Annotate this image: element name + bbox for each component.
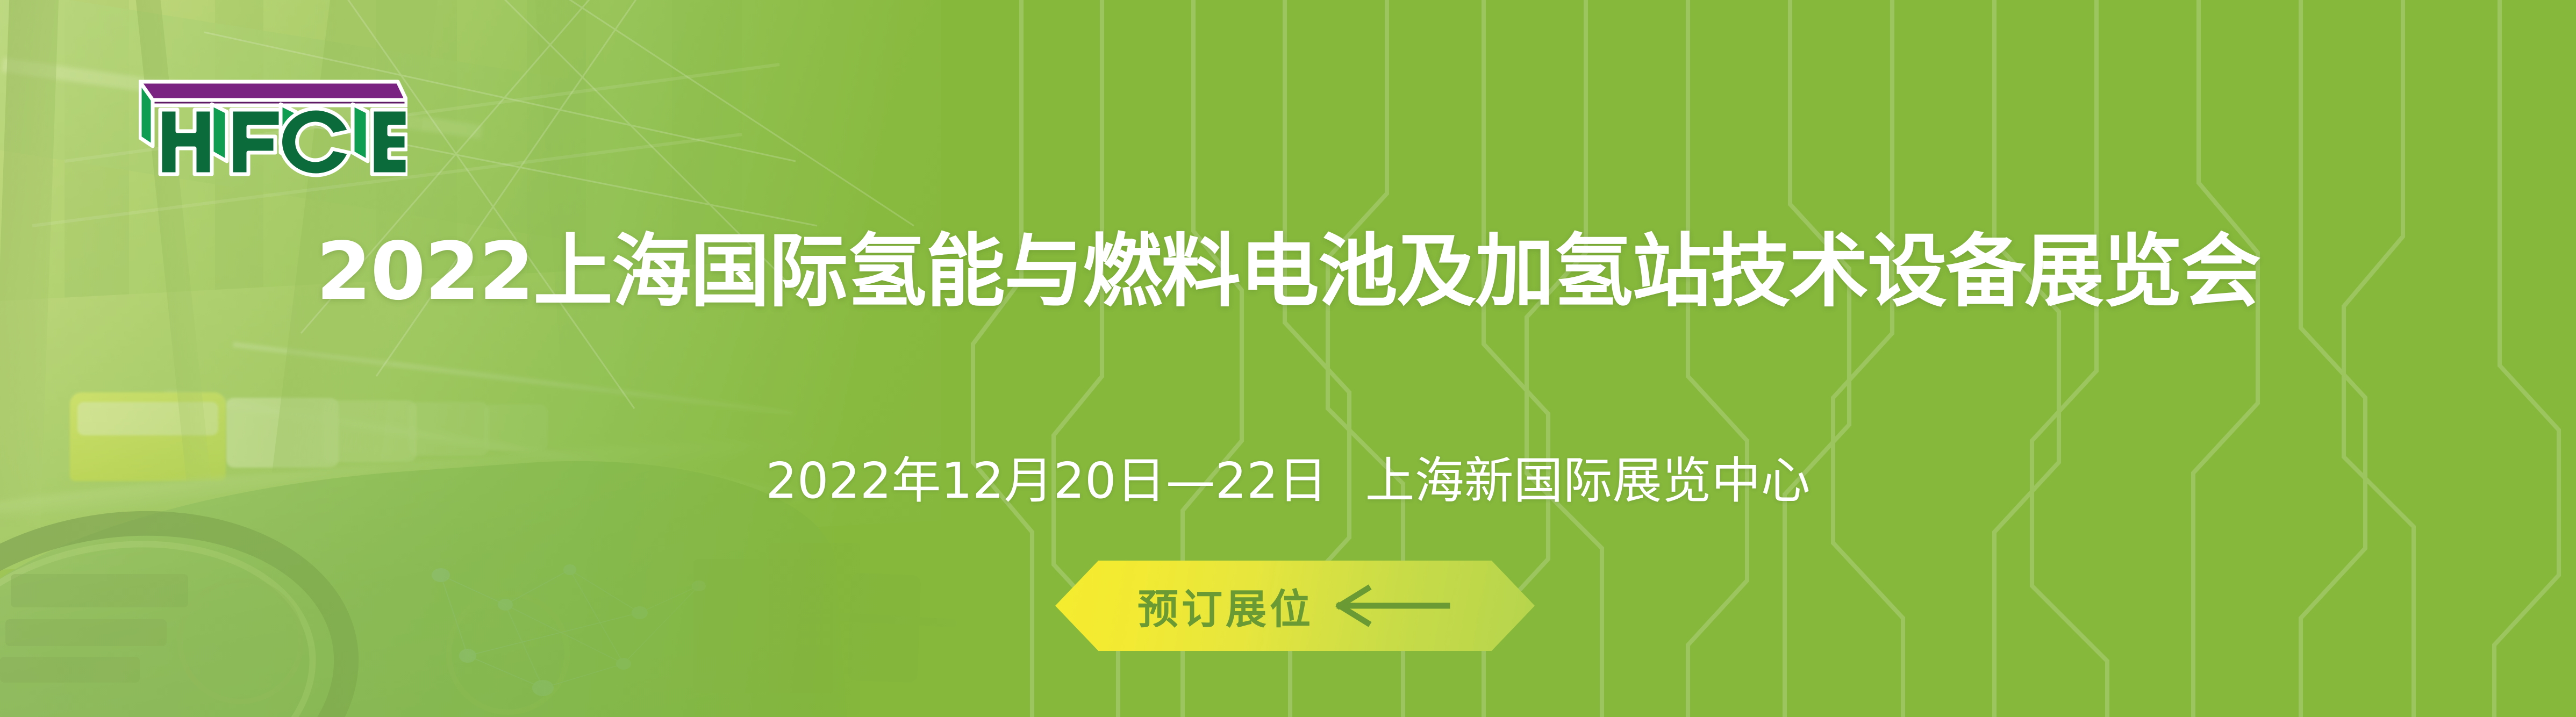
event-venue: 上海新国际展览中心 — [1365, 452, 1811, 510]
event-details: 2022年12月20日—22日上海新国际展览中心 — [765, 441, 1810, 512]
logo-letter-e — [372, 110, 407, 174]
hfce-logo-mark — [139, 77, 407, 180]
logo-letter-f — [231, 110, 281, 174]
left-arrow-icon — [1334, 584, 1452, 627]
logo-letter-h — [160, 110, 212, 174]
logo-letter-c — [281, 109, 349, 175]
exhibition-banner: 2022上海国际氢能与燃料电池及加氢站技术设备展览会 2022年12月20日—2… — [0, 0, 2576, 717]
hfce-logo[interactable] — [139, 77, 407, 180]
logo-flag-3 — [353, 104, 368, 161]
logo-flag-1 — [212, 104, 227, 161]
logo-canopy-top — [140, 82, 406, 100]
event-date: 2022年12月20日—22日 — [765, 452, 1327, 510]
book-booth-button-content: 预订展位 — [1055, 561, 1535, 651]
book-booth-button[interactable]: 预订展位 — [1055, 561, 1535, 651]
book-booth-label: 预订展位 — [1137, 576, 1314, 635]
page-title: 2022上海国际氢能与燃料电池及加氢站技术设备展览会 — [316, 206, 2260, 322]
